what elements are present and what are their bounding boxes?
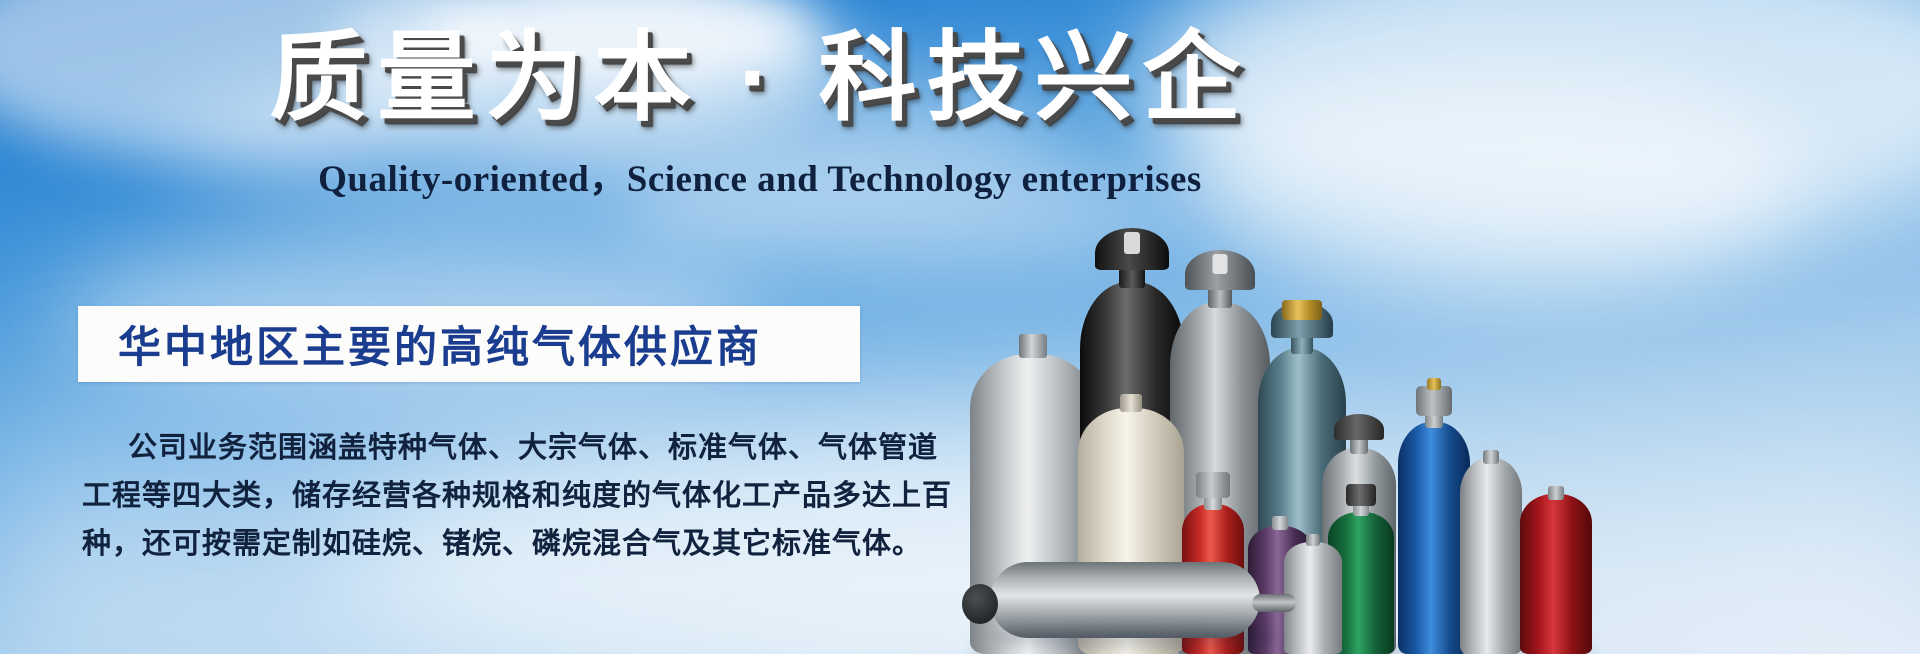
cylinder-neck bbox=[1483, 450, 1499, 464]
description-line: 工程等四大类，储存经营各种规格和纯度的气体化工产品多达上百 bbox=[82, 472, 872, 520]
brass-valve bbox=[1282, 300, 1322, 320]
cylinder-valve bbox=[1346, 484, 1376, 506]
cylinder-neck bbox=[1120, 394, 1142, 412]
gas-cylinder-lineup-image bbox=[960, 0, 1920, 654]
banner-description: 公司业务范围涵盖特种气体、大宗气体、标准气体、气体管道 工程等四大类，储存经营各… bbox=[82, 424, 872, 568]
cylinder-valve bbox=[1196, 472, 1230, 498]
cylinder-neck bbox=[1548, 486, 1564, 500]
cylinder-body bbox=[1460, 458, 1522, 654]
description-line: 种，还可按需定制如硅烷、锗烷、磷烷混合气及其它标准气体。 bbox=[82, 520, 872, 568]
cylinder-neck bbox=[1350, 438, 1368, 454]
dark-red-cylinder bbox=[1520, 478, 1592, 654]
horizontal-cylinder-shadow bbox=[990, 626, 1280, 648]
horizontal-cylinder-valve bbox=[1252, 594, 1296, 612]
horizontal-cylinder-cap bbox=[962, 584, 998, 624]
cylinder-body bbox=[1520, 494, 1592, 654]
short-aluminium-cylinder bbox=[1284, 526, 1342, 654]
cylinder-neck bbox=[1019, 334, 1047, 358]
brass-valve-tip bbox=[1427, 378, 1441, 390]
description-line: 公司业务范围涵盖特种气体、大宗气体、标准气体、气体管道 bbox=[82, 424, 872, 472]
aluminium-cylinder bbox=[1460, 432, 1522, 654]
callout-box: 华中地区主要的高纯气体供应商 bbox=[78, 306, 860, 382]
cylinder-valve bbox=[1213, 254, 1228, 274]
promo-banner: 质量为本 · 科技兴企 Quality-oriented，Science and… bbox=[0, 0, 1920, 654]
cylinder-valve bbox=[1124, 232, 1140, 254]
cylinder-valve bbox=[1416, 386, 1452, 416]
callout-text: 华中地区主要的高纯气体供应商 bbox=[118, 313, 762, 375]
cylinder-neck bbox=[1306, 534, 1320, 546]
cylinder-valve-guard bbox=[1334, 414, 1384, 440]
